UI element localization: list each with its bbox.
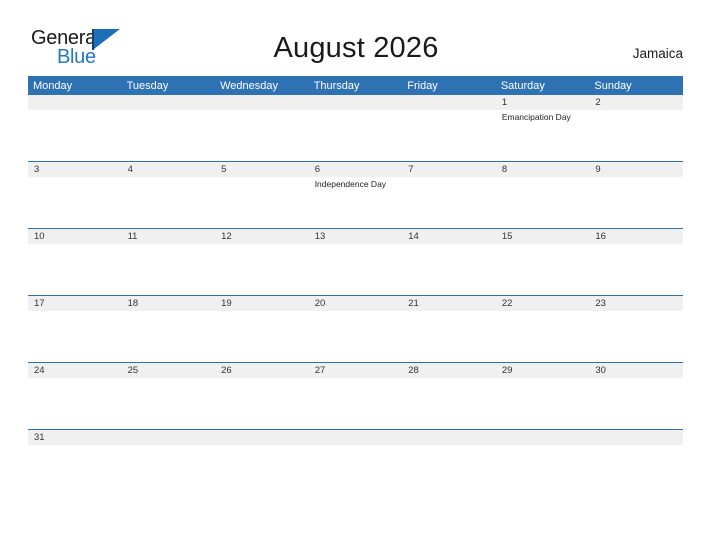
calendar-week-row: 24252627282930 [28,362,683,429]
day-cell-empty [589,311,683,362]
day-cell-empty [402,110,496,161]
day-number-7[interactable]: 7 [402,162,496,177]
day-cell-empty [28,311,122,362]
day-cell-empty [496,177,590,228]
day-number-25[interactable]: 25 [122,363,216,378]
day-number-empty [496,430,590,445]
day-number-empty [28,95,122,110]
day-number-29[interactable]: 29 [496,363,590,378]
day-number-30[interactable]: 30 [589,363,683,378]
weekday-header-sunday: Sunday [589,76,683,95]
day-number-6[interactable]: 6 [309,162,403,177]
calendar-week-row: 31 [28,429,683,445]
week-date-band: 12 [28,95,683,110]
day-number-23[interactable]: 23 [589,296,683,311]
day-cell-empty [28,110,122,161]
holiday-label[interactable]: Independence Day [309,177,403,228]
day-number-28[interactable]: 28 [402,363,496,378]
day-number-13[interactable]: 13 [309,229,403,244]
weekday-header-tuesday: Tuesday [122,76,216,95]
day-number-27[interactable]: 27 [309,363,403,378]
day-number-15[interactable]: 15 [496,229,590,244]
week-date-band: 10111213141516 [28,229,683,244]
week-date-band: 31 [28,430,683,445]
day-cell-empty [215,244,309,295]
day-cell-empty [589,177,683,228]
day-cell-empty [122,311,216,362]
day-cell-empty [28,378,122,429]
day-cell-empty [215,177,309,228]
day-number-17[interactable]: 17 [28,296,122,311]
day-cell-empty [309,311,403,362]
weekday-header-saturday: Saturday [496,76,590,95]
day-cell-empty [496,378,590,429]
week-event-band [28,311,683,362]
day-number-3[interactable]: 3 [28,162,122,177]
day-cell-empty [309,110,403,161]
week-event-band: Emancipation Day [28,110,683,161]
day-cell-empty [28,177,122,228]
day-cell-empty [215,110,309,161]
calendar-weeks: 12Emancipation Day3456789Independence Da… [28,95,683,445]
day-number-24[interactable]: 24 [28,363,122,378]
day-number-2[interactable]: 2 [589,95,683,110]
day-number-empty [402,95,496,110]
day-cell-empty [589,244,683,295]
day-cell-empty [309,378,403,429]
calendar-week-row: 12Emancipation Day [28,95,683,161]
day-number-11[interactable]: 11 [122,229,216,244]
day-cell-empty [402,177,496,228]
day-number-1[interactable]: 1 [496,95,590,110]
weekday-header-friday: Friday [402,76,496,95]
calendar-page: General Blue August 2026 Jamaica MondayT… [0,0,712,550]
weekday-header-wednesday: Wednesday [215,76,309,95]
day-number-20[interactable]: 20 [309,296,403,311]
day-cell-empty [215,311,309,362]
day-cell-empty [122,110,216,161]
day-cell-empty [122,378,216,429]
holiday-label[interactable]: Emancipation Day [496,110,590,161]
day-number-empty [309,430,403,445]
calendar-week-row: 3456789Independence Day [28,161,683,228]
day-number-19[interactable]: 19 [215,296,309,311]
weekday-header-monday: Monday [28,76,122,95]
week-event-band: Independence Day [28,177,683,228]
country-label: Jamaica [633,46,683,61]
day-number-empty [402,430,496,445]
day-number-14[interactable]: 14 [402,229,496,244]
day-number-empty [215,430,309,445]
day-number-22[interactable]: 22 [496,296,590,311]
day-cell-empty [122,244,216,295]
day-number-16[interactable]: 16 [589,229,683,244]
calendar-week-row: 10111213141516 [28,228,683,295]
week-event-band [28,244,683,295]
day-cell-empty [215,378,309,429]
week-date-band: 3456789 [28,162,683,177]
day-cell-empty [496,311,590,362]
weekday-header-thursday: Thursday [309,76,403,95]
day-number-empty [122,95,216,110]
weekday-header-row: MondayTuesdayWednesdayThursdayFridaySatu… [28,76,683,95]
day-cell-empty [402,378,496,429]
day-number-9[interactable]: 9 [589,162,683,177]
week-date-band: 17181920212223 [28,296,683,311]
page-header: General Blue August 2026 Jamaica [0,0,712,76]
day-number-12[interactable]: 12 [215,229,309,244]
day-number-26[interactable]: 26 [215,363,309,378]
day-number-8[interactable]: 8 [496,162,590,177]
day-cell-empty [589,110,683,161]
day-number-10[interactable]: 10 [28,229,122,244]
calendar-week-row: 17181920212223 [28,295,683,362]
calendar-grid: MondayTuesdayWednesdayThursdayFridaySatu… [28,76,683,445]
day-number-empty [122,430,216,445]
day-cell-empty [589,378,683,429]
day-cell-empty [496,244,590,295]
week-date-band: 24252627282930 [28,363,683,378]
day-number-empty [215,95,309,110]
day-number-empty [589,430,683,445]
day-cell-empty [402,244,496,295]
day-cell-empty [309,244,403,295]
day-number-empty [309,95,403,110]
day-number-5[interactable]: 5 [215,162,309,177]
day-cell-empty [402,311,496,362]
day-cell-empty [122,177,216,228]
day-number-18[interactable]: 18 [122,296,216,311]
day-number-21[interactable]: 21 [402,296,496,311]
week-event-band [28,378,683,429]
day-number-4[interactable]: 4 [122,162,216,177]
day-number-31[interactable]: 31 [28,430,122,445]
page-title: August 2026 [0,32,712,65]
day-cell-empty [28,244,122,295]
